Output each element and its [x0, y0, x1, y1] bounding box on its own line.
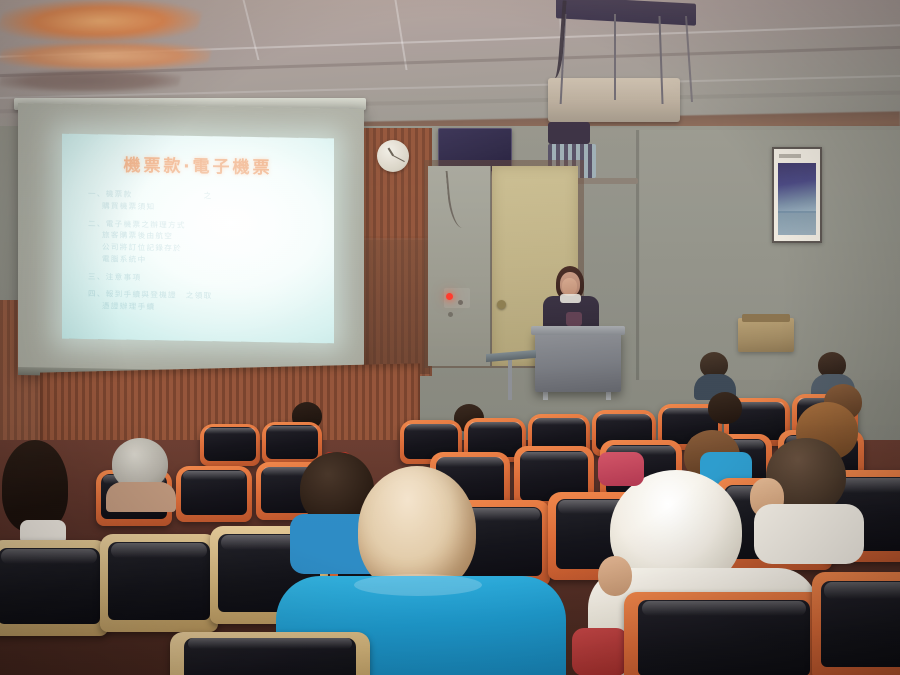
- hand: [598, 556, 632, 596]
- seat[interactable]: [100, 534, 218, 632]
- side-table-leg: [508, 356, 512, 400]
- slide-body-line: 購買機票須知: [88, 200, 308, 216]
- poster-caption: [779, 154, 801, 158]
- clock-minute-hand: [393, 155, 405, 162]
- shirt-collar: [354, 574, 482, 596]
- switch-button[interactable]: [458, 300, 463, 305]
- slide-body-line: 電腦系統中: [88, 253, 308, 269]
- ceiling-projector: [548, 0, 708, 140]
- podium-top: [531, 326, 625, 335]
- wood-panel-shadow: [356, 240, 430, 374]
- indicator-light-icon: [446, 293, 453, 300]
- audience-body: [106, 482, 176, 512]
- seat[interactable]: [624, 592, 824, 675]
- switch-button[interactable]: [448, 312, 453, 317]
- audience-body: [754, 504, 864, 564]
- speaker-face: [562, 278, 577, 295]
- door-handle[interactable]: [497, 300, 506, 309]
- poster-image-lower: [778, 211, 816, 235]
- audience-body: [598, 452, 644, 486]
- wicker-box-lid: [742, 314, 790, 322]
- wall-clock: [377, 140, 409, 172]
- ceiling-light-reflection: [0, 70, 183, 92]
- seat[interactable]: [200, 424, 260, 466]
- projected-slide: 機票款‧電子機票 一、機票款 之購買機票須知二、電子機票之辦理方式旅客購票後由航…: [62, 134, 334, 344]
- seat[interactable]: [170, 632, 370, 675]
- speaker-clothing-accent: [566, 312, 582, 326]
- slide-title: 機票款‧電子機票: [62, 150, 334, 180]
- slide-body-line: 憑證辦理手續: [88, 300, 308, 316]
- seat[interactable]: [812, 572, 900, 675]
- projector-mount-plate: [556, 0, 696, 26]
- audience-body: [572, 628, 628, 675]
- wall-corner-edge: [636, 130, 639, 380]
- podium: [535, 330, 621, 392]
- slide-body-line: 三、注意事項: [88, 271, 308, 287]
- wicker-box: [738, 318, 794, 352]
- seat[interactable]: [262, 422, 322, 464]
- framed-poster: [772, 147, 822, 243]
- projector-lens: [548, 122, 590, 144]
- lecture-hall-photograph: 機票款‧電子機票 一、機票款 之購買機票須知二、電子機票之辦理方式旅客購票後由航…: [0, 0, 900, 675]
- audience-head: [708, 392, 742, 424]
- seat[interactable]: [176, 466, 252, 522]
- seat[interactable]: [0, 540, 108, 636]
- slide-body: 一、機票款 之購買機票須知二、電子機票之辦理方式旅客購票後由航空公司將訂位記錄存…: [88, 188, 308, 316]
- audience-head: [2, 440, 68, 532]
- speaker-collar: [560, 294, 581, 303]
- poster-image: [778, 163, 816, 213]
- ceiling-light-reflection: [0, 0, 206, 42]
- ceiling-light-reflection: [0, 42, 213, 70]
